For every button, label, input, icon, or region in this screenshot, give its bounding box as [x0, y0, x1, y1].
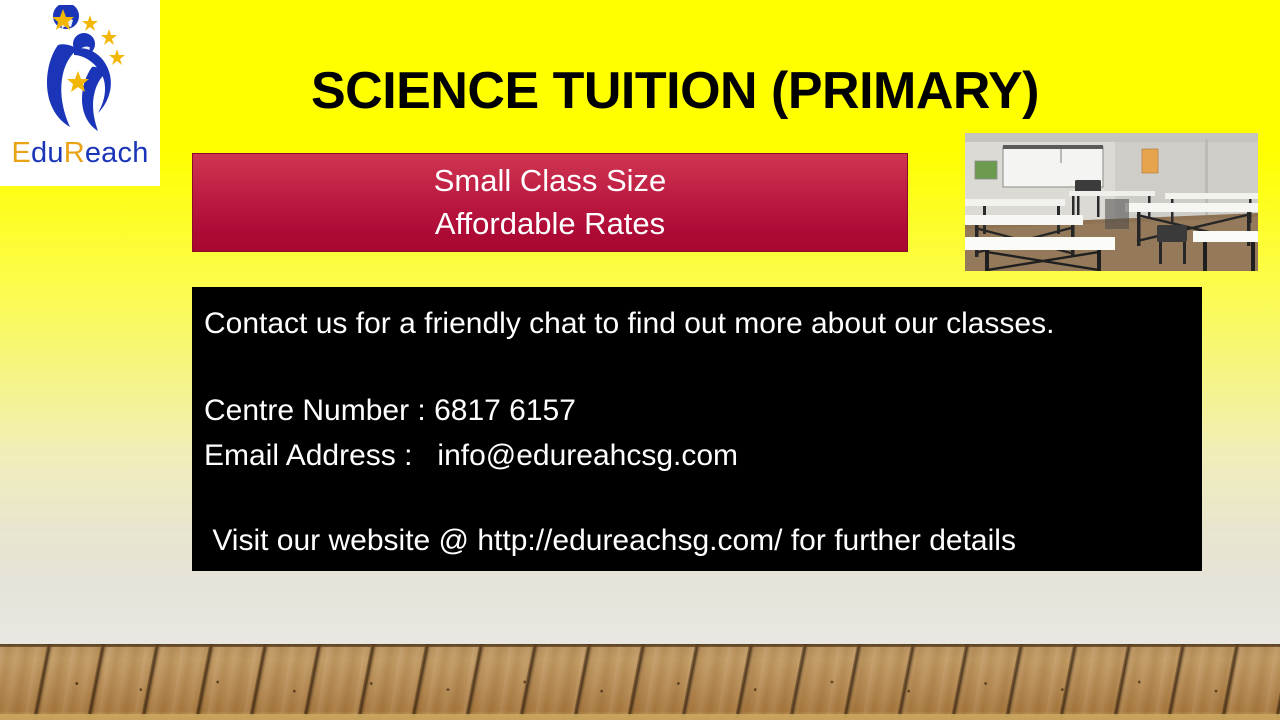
- logo-wordmark: EduReach: [11, 139, 148, 168]
- logo-letters-each: each: [85, 137, 149, 169]
- wood-floor: [0, 644, 1280, 720]
- contact-intro-text: Contact us for a friendly chat to find o…: [204, 301, 1202, 346]
- centre-number-line: Centre Number : 6817 6157: [204, 388, 1202, 433]
- spacer-1: [204, 346, 1202, 388]
- slide-canvas: EduReach SCIENCE TUITION (PRIMARY) Small…: [0, 0, 1280, 720]
- banner-line-2: Affordable Rates: [435, 203, 665, 246]
- website-line[interactable]: Visit our website @ http://edureachsg.co…: [204, 518, 1202, 563]
- highlight-banner: Small Class Size Affordable Rates: [192, 153, 908, 252]
- logo-panel: EduReach: [0, 0, 160, 186]
- edureach-logo-icon: [14, 5, 146, 138]
- classroom-photo: [965, 133, 1258, 271]
- spacer-2: [204, 478, 1202, 518]
- logo-letter-r: R: [64, 137, 85, 169]
- floor-bottom-highlight: [0, 714, 1280, 720]
- email-address-line: Email Address : info@edureahcsg.com: [204, 433, 1202, 478]
- page-title: SCIENCE TUITION (PRIMARY): [170, 64, 1180, 119]
- banner-line-1: Small Class Size: [434, 160, 667, 203]
- floor-edge-line: [0, 644, 1280, 647]
- contact-info-box: Contact us for a friendly chat to find o…: [192, 287, 1202, 571]
- logo-letter-e: E: [11, 137, 31, 169]
- logo-letters-du: du: [31, 137, 64, 169]
